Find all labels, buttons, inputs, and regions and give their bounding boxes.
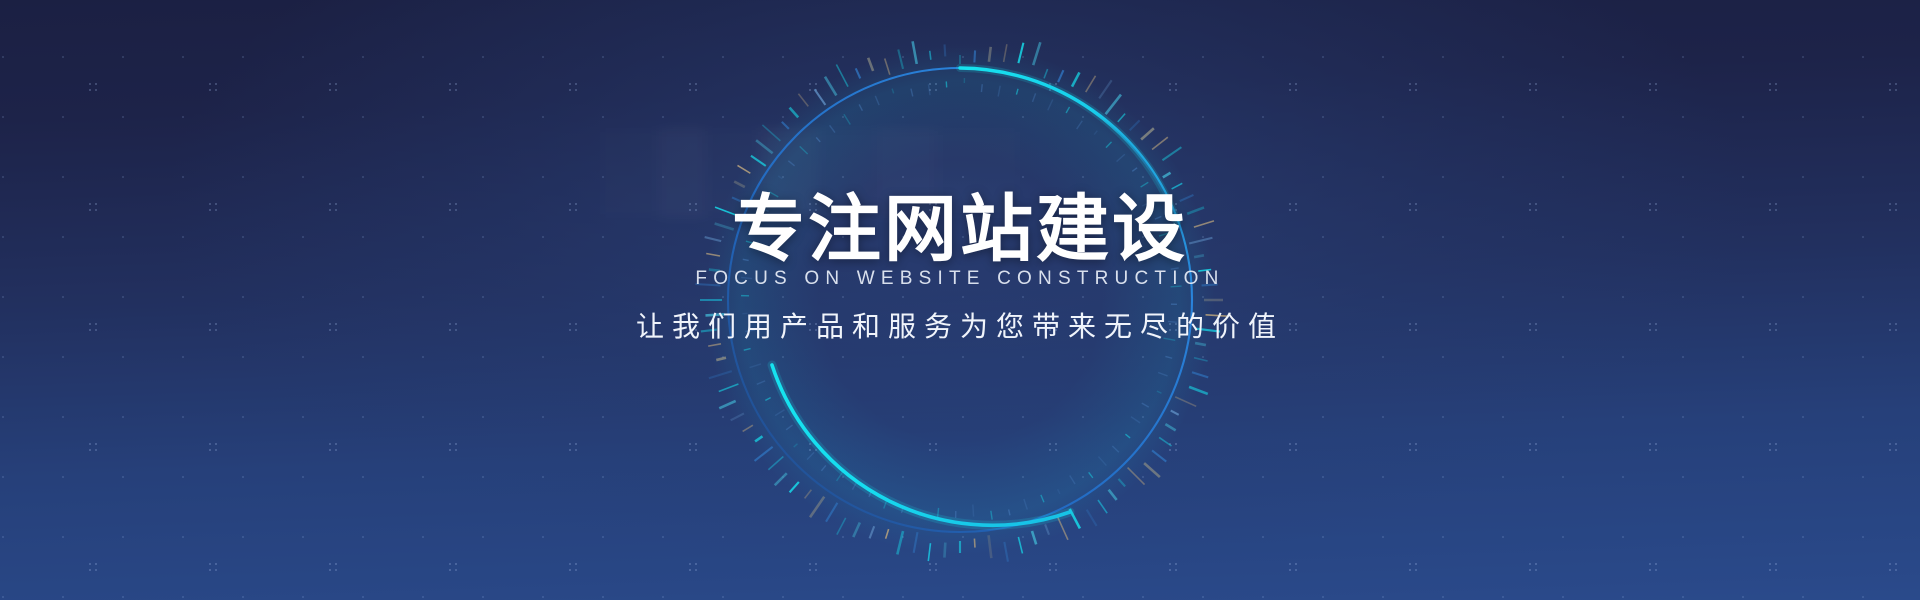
- ring-tick-inner: [757, 381, 765, 384]
- dot-grid-pattern-offset: [0, 0, 1920, 600]
- ring-tick: [805, 490, 812, 499]
- ring-tick-inner: [981, 84, 982, 92]
- ring-tick-inner: [852, 482, 856, 490]
- ring-tick-inner: [788, 161, 794, 166]
- ring-tick: [1118, 114, 1125, 122]
- ring-tick: [1070, 509, 1080, 528]
- ring-tick: [1004, 44, 1007, 62]
- ring-tick: [768, 457, 783, 470]
- ring-tick: [1118, 479, 1125, 486]
- page-subtitle: FOCUS ON WEBSITE CONSTRUCTION: [0, 269, 1920, 288]
- circular-emblem: [650, 0, 1270, 600]
- ring-tick: [1004, 542, 1008, 562]
- ring-tick-inner: [750, 364, 761, 368]
- ring-tick: [945, 44, 946, 56]
- ring-tick: [1018, 43, 1023, 63]
- ring-tick: [815, 89, 826, 105]
- ring-tick: [944, 543, 945, 558]
- ring-tick: [1171, 411, 1179, 415]
- dot-grid-pattern-fine: [0, 0, 1920, 600]
- ring-tick-inner: [938, 508, 939, 518]
- ring-tick: [1087, 510, 1097, 526]
- ring-tick-inner: [1077, 121, 1083, 129]
- ring-tick: [719, 384, 739, 391]
- hero-banner: 专注网站建设 FOCUS ON WEBSITE CONSTRUCTION 让我们…: [0, 0, 1920, 600]
- ring-tick: [868, 58, 873, 71]
- ring-tick: [1045, 524, 1049, 534]
- ring-tick-inner: [1117, 154, 1125, 161]
- ring-tick: [1058, 70, 1063, 82]
- ring-tick: [836, 64, 848, 86]
- ring-tick: [1086, 76, 1096, 92]
- ring-tick-inner: [1016, 89, 1018, 95]
- ring-tick: [989, 47, 991, 62]
- cyan-arc-bottom: [772, 365, 1070, 525]
- ring-tick-inner: [1094, 131, 1097, 135]
- ring-tick: [898, 50, 903, 69]
- ring-tick-inner: [919, 511, 920, 516]
- ring-tick: [1128, 468, 1145, 485]
- ring-tick: [886, 529, 889, 539]
- ring-tick-inner: [1098, 457, 1106, 466]
- ring-tick-inner: [1106, 142, 1112, 148]
- ring-tick: [974, 50, 975, 62]
- ring-tick-inner: [744, 349, 751, 351]
- ring-tick-inner: [892, 89, 894, 94]
- ring-tick: [1018, 537, 1022, 554]
- ring-tick: [1159, 437, 1171, 446]
- ring-tick: [1099, 80, 1111, 98]
- ring-tick-inner: [1048, 99, 1053, 110]
- ring-tick: [756, 140, 773, 153]
- ring-tick-inner: [821, 465, 825, 470]
- ring-tick-inner: [875, 96, 879, 105]
- ring-tick: [751, 156, 766, 166]
- ring-tick-inner: [1024, 499, 1027, 509]
- ring-tick: [856, 68, 861, 78]
- ring-tick: [1152, 137, 1168, 149]
- ring-tick-inner: [1070, 476, 1075, 484]
- ring-tick: [914, 532, 918, 553]
- ring-tick: [782, 122, 789, 129]
- ring-tick: [1162, 147, 1181, 160]
- ring-tick: [837, 518, 846, 535]
- ring-tick: [743, 425, 753, 431]
- ring-tick-inner: [1142, 403, 1149, 407]
- ring-tick-inner: [901, 505, 903, 513]
- ring-tick: [719, 401, 735, 408]
- dot-grid-pattern: [0, 0, 1920, 600]
- ring-tick-inner: [786, 425, 792, 430]
- ring-tick: [885, 58, 890, 74]
- ring-tick: [1058, 517, 1068, 540]
- ring-tick-inner: [869, 491, 872, 496]
- ring-tick: [853, 523, 860, 538]
- ring-tick-inner: [1131, 417, 1140, 423]
- ring-tick-inner: [1032, 93, 1035, 101]
- ring-tick-inner: [1125, 434, 1130, 438]
- ring-tick: [790, 108, 799, 118]
- ring-tick-inner: [844, 114, 850, 124]
- ring-tick: [1192, 372, 1208, 377]
- ring-tick-inner: [1112, 446, 1119, 452]
- ring-tick: [1098, 500, 1107, 513]
- ring-tick: [1163, 173, 1171, 178]
- ring-tick-inner: [998, 86, 1000, 97]
- ring-tick-inner: [1058, 489, 1060, 493]
- page-tagline: 让我们用产品和服务为您带来无尽的价值: [0, 306, 1920, 348]
- ring-tick-inner: [807, 452, 814, 459]
- ring-tick: [989, 535, 992, 558]
- ring-tick: [1109, 490, 1117, 500]
- ring-tick: [974, 539, 975, 548]
- ring-tick-inner: [1157, 391, 1162, 393]
- ring-tick-inner: [1132, 168, 1137, 172]
- ring-tick: [1072, 72, 1079, 86]
- ring-tick: [716, 358, 726, 360]
- ring-tick-inner: [1066, 107, 1069, 113]
- ring-tick: [1152, 450, 1166, 461]
- ring-tick: [755, 436, 762, 441]
- ring-tick-inner: [1041, 495, 1044, 502]
- ring-tick-inner: [991, 511, 992, 520]
- ring-tick-inner: [884, 498, 888, 508]
- ring-tick-inner: [928, 84, 930, 95]
- ring-tick: [913, 41, 917, 64]
- ring-tick-inner: [765, 398, 770, 401]
- ring-tick-inner: [800, 146, 808, 154]
- ring-tick: [870, 526, 875, 538]
- ring-tick: [826, 503, 837, 522]
- ring-tick: [1106, 95, 1121, 115]
- ring-tick-inner: [911, 89, 913, 97]
- ring-tick-inner: [816, 137, 820, 142]
- ring-tick: [738, 165, 751, 173]
- ring-tick: [1130, 120, 1140, 130]
- ring-outline: [728, 68, 1192, 532]
- ring-tick: [1144, 463, 1160, 477]
- ring-tick-inner: [1009, 509, 1010, 515]
- ring-tick: [825, 77, 836, 96]
- ring-tick-inner: [1158, 372, 1167, 375]
- ring-tick: [1141, 128, 1154, 139]
- ring-tick-inner: [1089, 472, 1093, 478]
- ring-tick: [928, 543, 930, 561]
- ring-tick: [1033, 42, 1040, 65]
- ring-tick: [755, 447, 773, 461]
- ring-tick: [1175, 397, 1196, 406]
- ring-tick: [731, 413, 744, 420]
- ring-tick: [775, 473, 787, 485]
- ring-tick: [1044, 69, 1048, 78]
- ring-tick: [810, 497, 824, 518]
- ring-tick: [1165, 424, 1175, 430]
- ring-tick: [930, 51, 931, 60]
- ring-tick-marks: [695, 41, 1227, 561]
- ring-tick-inner: [778, 176, 782, 179]
- ring-tick-inner: [859, 104, 862, 110]
- ring-tick: [1032, 531, 1036, 544]
- ring-tick: [790, 482, 799, 492]
- ring-tick-inner: [775, 410, 784, 416]
- ring-tick-inner: [973, 505, 974, 517]
- ring-tick: [1194, 358, 1208, 361]
- ring-tick: [798, 94, 808, 107]
- ring-tick-inner: [830, 125, 835, 132]
- cyan-arc-bottom-glow: [772, 365, 1070, 525]
- ring-tick: [1189, 387, 1208, 394]
- ring-tick: [897, 531, 903, 554]
- ring-tick-inner: [837, 471, 844, 481]
- ring-tick: [709, 371, 732, 378]
- ring-tick: [762, 125, 780, 141]
- page-title: 专注网站建设: [0, 193, 1920, 266]
- ring-tick-inner: [794, 444, 798, 447]
- ring-tick-inner: [1165, 356, 1172, 358]
